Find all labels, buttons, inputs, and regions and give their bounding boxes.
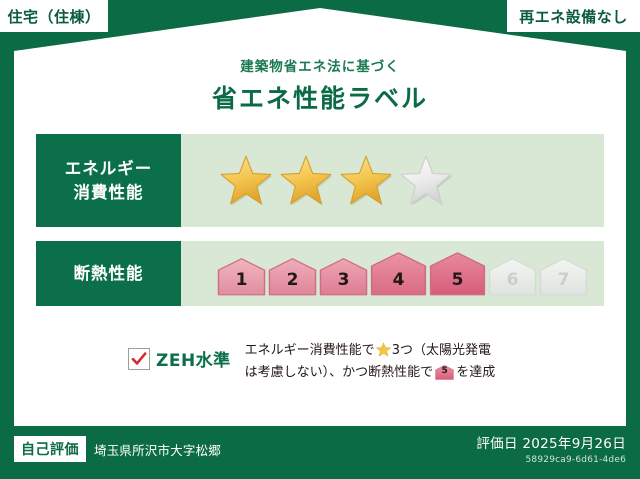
renewable-energy-tab: 再エネ設備なし — [507, 0, 640, 32]
inline-insulation-chip: 5 — [435, 369, 454, 384]
renewable-energy-tab-label: 再エネ設備なし — [519, 6, 628, 27]
self-evaluation-badge: 自己評価 — [14, 436, 86, 462]
house-icon — [435, 365, 454, 380]
zeh-desc-line1-a: エネルギー消費性能で — [245, 343, 375, 358]
house-icon — [429, 252, 486, 296]
label-footer: 自己評価 埼玉県所沢市大字松郷 評価日 2025年9月26日 58929ca9-… — [0, 426, 640, 479]
evaluation-id: 58929ca9-6d61-4de6 — [476, 455, 626, 465]
house-icon — [268, 258, 317, 296]
house-icon — [539, 258, 588, 296]
metric-rows: エネルギー 消費性能 断熱性能 1234567 — [36, 134, 604, 320]
star-icon-filled — [217, 153, 275, 209]
insulation-performance-label-text: 断熱性能 — [74, 262, 144, 286]
insulation-performance-label: 断熱性能 — [36, 241, 181, 306]
energy-performance-label: エネルギー 消費性能 — [36, 134, 181, 227]
insulation-performance-row: 断熱性能 1234567 — [36, 241, 604, 306]
zeh-checkbox[interactable] — [128, 348, 150, 370]
zeh-desc-line2-b: を達成 — [456, 365, 495, 380]
insulation-level-chip-active: 3 — [319, 258, 368, 296]
star-icon-filled — [277, 153, 335, 209]
star-rating — [217, 153, 455, 209]
label-title-block: 建築物省エネ法に基づく 省エネ性能ラベル — [0, 55, 640, 115]
zeh-desc-line1-b: 3つ（太陽光発電 — [392, 343, 491, 358]
insulation-level-chip-active: 4 — [370, 252, 427, 296]
zeh-description: エネルギー消費性能で3つ（太陽光発電 は考慮しない）、かつ断熱性能で5を達成 — [245, 340, 496, 389]
insulation-level-chip-active: 5 — [435, 365, 454, 380]
star-icon — [376, 342, 391, 357]
energy-performance-label-line2: 消費性能 — [74, 181, 144, 205]
energy-performance-label: 住宅（住棟） 再エネ設備なし 建築物省エネ法に基づく 省エネ性能ラベル エネルギ… — [0, 0, 640, 479]
self-evaluation-group: 自己評価 埼玉県所沢市大字松郷 — [14, 436, 221, 462]
label-subtitle: 建築物省エネ法に基づく — [0, 55, 640, 75]
insulation-level-scale: 1234567 — [217, 252, 588, 296]
evaluation-date: 評価日 2025年9月26日 — [476, 432, 626, 452]
house-icon — [217, 258, 266, 296]
label-title: 省エネ性能ラベル — [0, 79, 640, 115]
zeh-label: ZEH水準 — [156, 346, 231, 371]
property-address: 埼玉県所沢市大字松郷 — [94, 440, 221, 459]
insulation-level-chip-active: 5 — [429, 252, 486, 296]
insulation-level-chip-inactive: 6 — [488, 258, 537, 296]
zeh-description-line1: エネルギー消費性能で3つ（太陽光発電 — [245, 340, 496, 362]
zeh-desc-line2-a: は考慮しない）、かつ断熱性能で — [245, 365, 434, 380]
zeh-section: ZEH水準 エネルギー消費性能で3つ（太陽光発電 は考慮しない）、かつ断熱性能で… — [128, 340, 495, 389]
house-icon — [319, 258, 368, 296]
check-icon — [131, 351, 147, 367]
zeh-description-line2: は考慮しない）、かつ断熱性能で5を達成 — [245, 362, 496, 388]
energy-performance-row: エネルギー 消費性能 — [36, 134, 604, 227]
building-type-tab: 住宅（住棟） — [0, 0, 108, 32]
energy-performance-label-line1: エネルギー — [65, 157, 153, 181]
insulation-level-chip-inactive: 7 — [539, 258, 588, 296]
building-type-tab-label: 住宅（住棟） — [7, 6, 100, 27]
insulation-level-chip-active: 1 — [217, 258, 266, 296]
insulation-performance-value: 1234567 — [181, 241, 604, 306]
insulation-level-chip-active: 2 — [268, 258, 317, 296]
star-icon-filled — [337, 153, 395, 209]
house-icon — [370, 252, 427, 296]
evaluation-date-group: 評価日 2025年9月26日 58929ca9-6d61-4de6 — [476, 432, 626, 465]
house-icon — [488, 258, 537, 296]
star-icon-empty — [397, 153, 455, 209]
zeh-badge: ZEH水準 — [128, 340, 231, 371]
energy-performance-value — [181, 134, 604, 227]
